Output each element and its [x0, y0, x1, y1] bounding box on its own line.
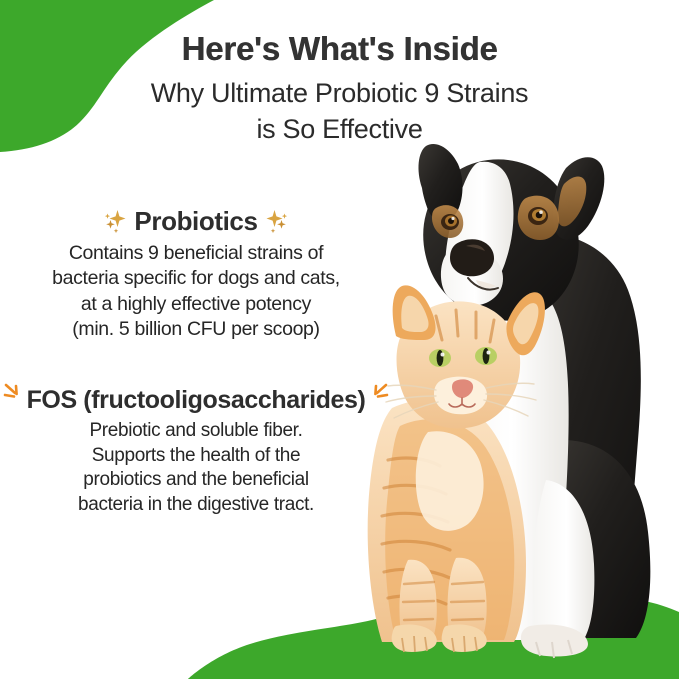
section-fos: FOS (fructooligosaccharides) Prebiotic a…	[0, 386, 392, 518]
body-line: Contains 9 beneficial strains of	[69, 242, 323, 264]
body-line: bacteria in the digestive tract.	[78, 494, 314, 515]
body-line: (min. 5 billion CFU per scoop)	[72, 318, 319, 340]
body-line: Prebiotic and soluble fiber.	[89, 420, 302, 441]
section-probiotics: Probiotics Contains 9 beneficial strains…	[8, 206, 384, 342]
sparkle-icon	[104, 208, 128, 234]
section-probiotics-title: Probiotics	[134, 206, 257, 237]
infographic-canvas: Here's What's Inside Why Ultimate Probio…	[0, 0, 679, 679]
page-subtitle: Why Ultimate Probiotic 9 Strains is So E…	[0, 76, 679, 147]
dog-figure	[419, 144, 651, 658]
body-line: Supports the health of the	[92, 445, 301, 466]
subtitle-line-2: is So Effective	[256, 114, 422, 144]
green-ground-shape	[188, 590, 679, 679]
page-title: Here's What's Inside	[0, 30, 679, 68]
body-line: probiotics and the beneficial	[83, 469, 308, 490]
burst-icon	[371, 383, 389, 401]
burst-icon	[3, 383, 21, 401]
section-fos-body: Prebiotic and soluble fiber. Supports th…	[0, 419, 392, 518]
section-fos-title: FOS (fructooligosaccharides)	[27, 386, 366, 415]
body-line: bacteria specific for dogs and cats,	[52, 267, 340, 289]
body-line: at a highly effective potency	[81, 293, 311, 315]
header-block: Here's What's Inside Why Ultimate Probio…	[0, 30, 679, 147]
sparkle-icon	[264, 208, 288, 234]
cat-figure	[368, 285, 545, 652]
section-probiotics-body: Contains 9 beneficial strains of bacteri…	[8, 241, 384, 342]
section-fos-heading-row: FOS (fructooligosaccharides)	[0, 386, 392, 415]
subtitle-line-1: Why Ultimate Probiotic 9 Strains	[151, 78, 529, 108]
section-probiotics-heading-row: Probiotics	[8, 206, 384, 237]
